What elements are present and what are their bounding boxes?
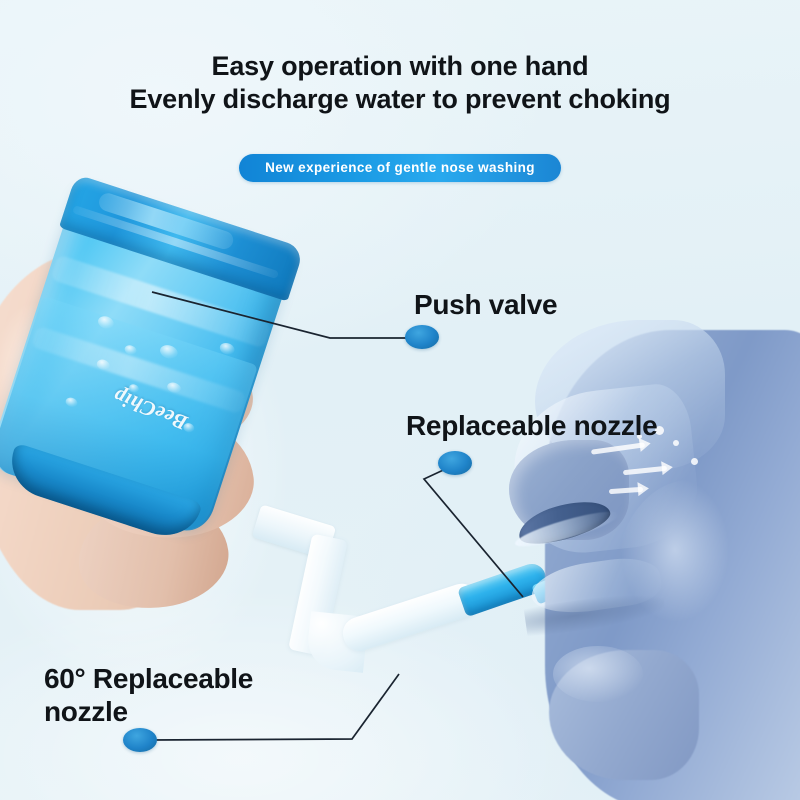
mist-spark	[673, 440, 679, 446]
callout-dot-angled-nozzle[interactable]	[123, 728, 157, 752]
callout-label-replaceable-nozzle: Replaceable nozzle	[406, 409, 657, 442]
chin-highlight	[553, 646, 643, 702]
status-badge: New experience of gentle nose washing	[239, 154, 561, 182]
face-profile-illustration	[505, 330, 800, 800]
callout-dot-replaceable-nozzle[interactable]	[438, 451, 472, 475]
callout-dot-push-valve[interactable]	[405, 325, 439, 349]
callout-label-push-valve: Push valve	[414, 288, 557, 321]
product-infographic: BeeChip	[0, 0, 800, 800]
callout-label-angled-nozzle: 60° Replaceable nozzle	[44, 662, 253, 728]
badge-container: New experience of gentle nose washing	[0, 154, 800, 182]
headline-line-1: Easy operation with one hand	[0, 50, 800, 83]
page-title: Easy operation with one hand Evenly disc…	[0, 50, 800, 116]
mist-spark	[691, 458, 698, 465]
headline-line-2: Evenly discharge water to prevent chokin…	[0, 83, 800, 116]
